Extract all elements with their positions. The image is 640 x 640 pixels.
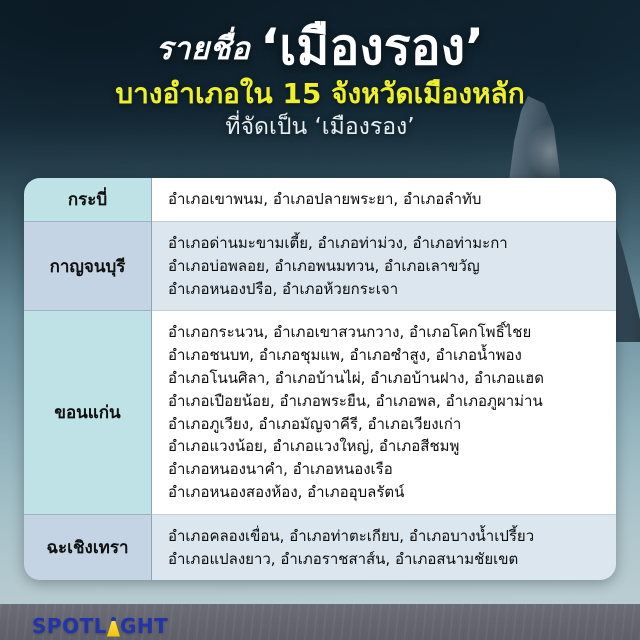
spotlight-logo: SPOTL GHT — [32, 614, 168, 638]
title-prefix: รายชื่อ — [156, 34, 250, 72]
district-line: อำเภอชนบท, อำเภอชุมแพ, อำเภอซำสูง, อำเภอ… — [168, 344, 604, 367]
logo-text-left: SPOTL — [32, 614, 107, 638]
district-list: อำเภอคลองเขื่อน, อำเภอท่าตะเกียบ, อำเภอบ… — [152, 514, 616, 581]
district-line: อำเภอเขาพนม, อำเภอปลายพระยา, อำเภอลำทับ — [168, 188, 604, 211]
subtitle-primary: บางอำเภอใน 15 จังหวัดเมืองหลัก — [0, 78, 640, 110]
district-line: อำเภอแวงน้อย, อำเภอแวงใหญ่, อำเภอสีชมพู — [168, 435, 604, 458]
province-label: กาญจนบุรี — [24, 221, 152, 310]
subtitle-secondary: ที่จัดเป็น ‘เมืองรอง’ — [0, 114, 640, 142]
district-line: อำเภอเปือยน้อย, อำเภอพระยืน, อำเภอพล, อำ… — [168, 390, 604, 413]
district-line: อำเภอคลองเขื่อน, อำเภอท่าตะเกียบ, อำเภอบ… — [168, 525, 604, 548]
poster-header: รายชื่อ ‘เมืองรอง’ บางอำเภอใน 15 จังหวัด… — [0, 0, 640, 142]
district-line: อำเภอโนนศิลา, อำเภอบ้านไผ่, อำเภอบ้านฝาง… — [168, 367, 604, 390]
page-title: รายชื่อ ‘เมืองรอง’ — [0, 0, 640, 72]
district-line: อำเภอหนองนาคำ, อำเภอหนองเรือ — [168, 458, 604, 481]
district-line: อำเภอหนองสองห้อง, อำเภออุบลรัตน์ — [168, 481, 604, 504]
district-line: อำเภอแปลงยาว, อำเภอราชสาส์น, อำเภอสนามชั… — [168, 548, 604, 571]
table-row: ขอนแก่น อำเภอกระนวน, อำเภอเขาสวนกวาง, อำ… — [24, 310, 616, 513]
district-list: อำเภอกระนวน, อำเภอเขาสวนกวาง, อำเภอโคกโพ… — [152, 310, 616, 513]
table-row: กระบี่ อำเภอเขาพนม, อำเภอปลายพระยา, อำเภ… — [24, 178, 616, 221]
table-row: กาญจนบุรี อำเภอด่านมะขามเตี้ย, อำเภอท่าม… — [24, 221, 616, 310]
district-line: อำเภอกระนวน, อำเภอเขาสวนกวาง, อำเภอโคกโพ… — [168, 321, 604, 344]
province-district-table: กระบี่ อำเภอเขาพนม, อำเภอปลายพระยา, อำเภ… — [24, 178, 616, 580]
district-line: อำเภอบ่อพลอย, อำเภอพนมทวน, อำเภอเลาขวัญ — [168, 255, 604, 278]
district-list: อำเภอด่านมะขามเตี้ย, อำเภอท่าม่วง, อำเภอ… — [152, 221, 616, 310]
district-line: อำเภอด่านมะขามเตี้ย, อำเภอท่าม่วง, อำเภอ… — [168, 232, 604, 255]
title-main: ‘เมืองรอง’ — [260, 22, 484, 72]
logo-text-right: GHT — [120, 614, 168, 638]
spotlight-beam-icon — [107, 617, 120, 636]
district-line: อำเภอภูเวียง, อำเภอมัญจาคีรี, อำเภอเวียง… — [168, 413, 604, 436]
province-label: ฉะเชิงเทรา — [24, 514, 152, 581]
poster-root: รายชื่อ ‘เมืองรอง’ บางอำเภอใน 15 จังหวัด… — [0, 0, 640, 640]
district-line: อำเภอหนองปรือ, อำเภอห้วยกระเจา — [168, 278, 604, 301]
province-label: กระบี่ — [24, 178, 152, 221]
province-label: ขอนแก่น — [24, 310, 152, 513]
table-row: ฉะเชิงเทรา อำเภอคลองเขื่อน, อำเภอท่าตะเก… — [24, 514, 616, 581]
district-list: อำเภอเขาพนม, อำเภอปลายพระยา, อำเภอลำทับ — [152, 178, 616, 221]
